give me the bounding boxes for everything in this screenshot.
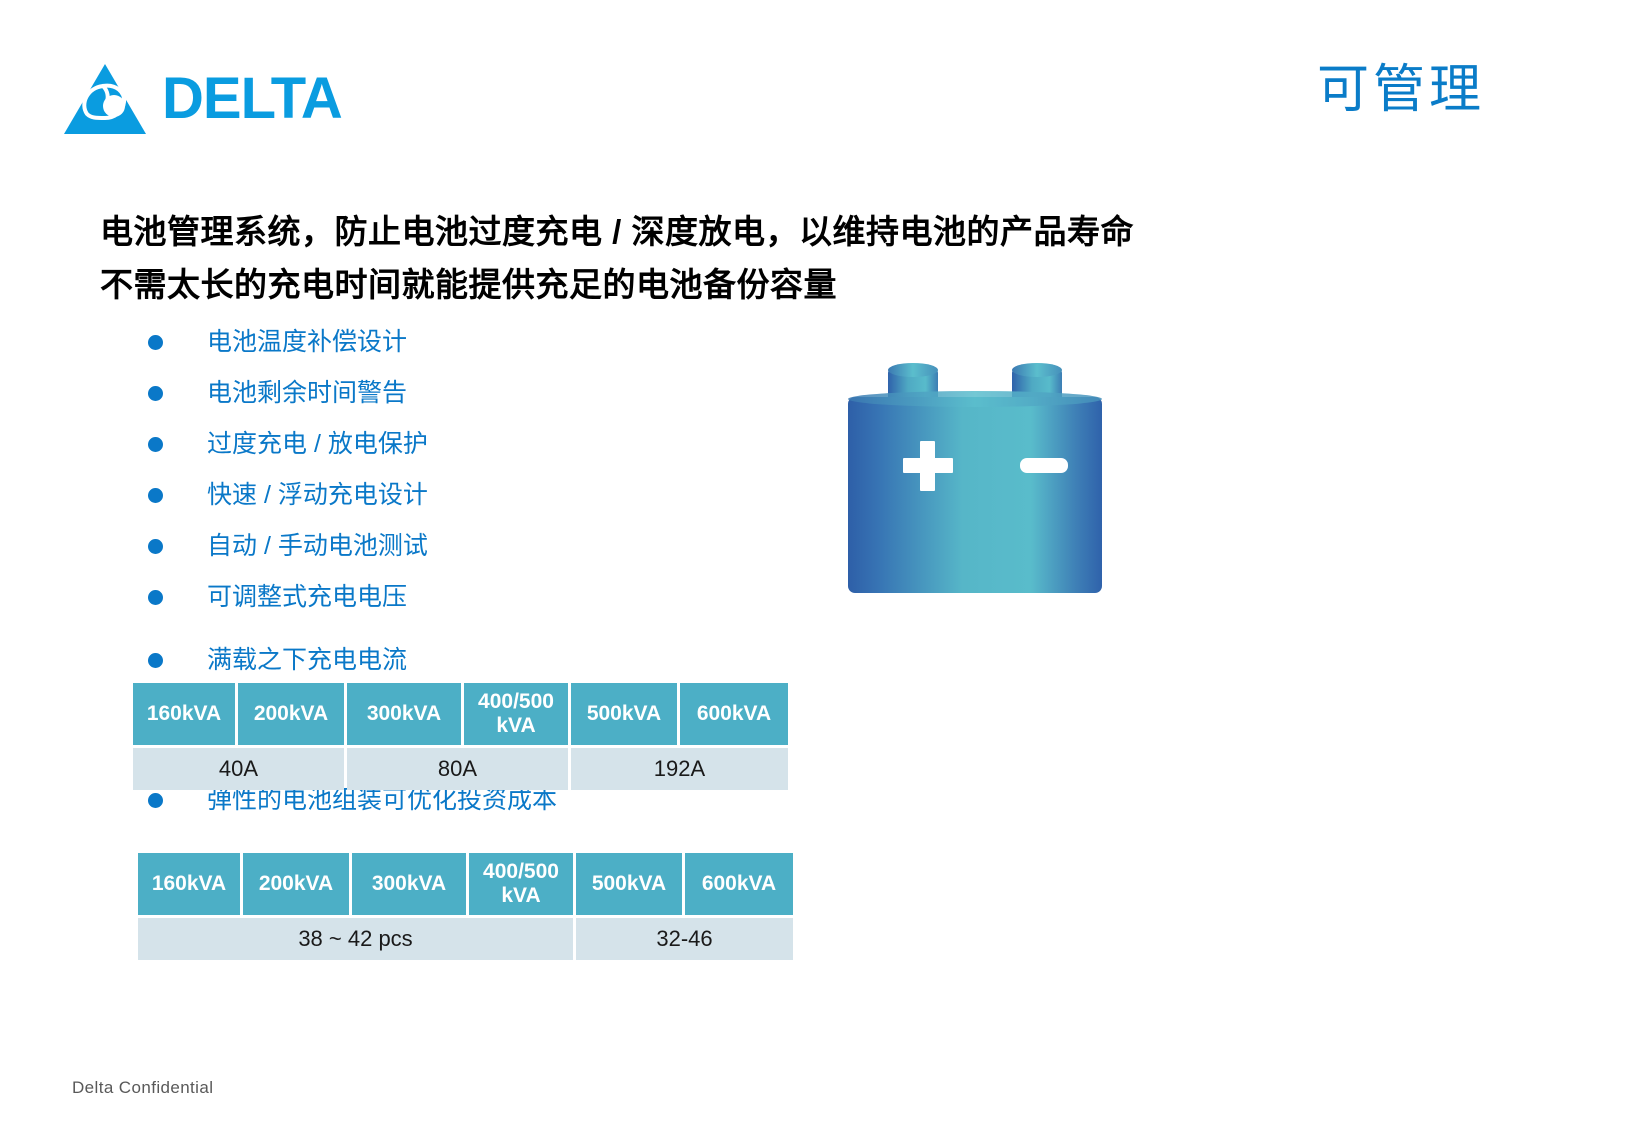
table-header-row: 160kVA 200kVA 300kVA 400/500 kVA 500kVA … (138, 853, 793, 915)
table-cell: 192A (571, 748, 788, 790)
bullet-dot-icon (148, 539, 163, 554)
table-row: 40A 80A 192A (133, 748, 788, 790)
feature-bullet-list: 电池温度补偿设计 电池剩余时间警告 过度充电 / 放电保护 快速 / 浮动充电设… (148, 328, 768, 697)
list-item-label: 自动 / 手动电池测试 (207, 532, 428, 561)
table-header-cell: 160kVA (133, 683, 235, 745)
table-battery-count: 160kVA 200kVA 300kVA 400/500 kVA 500kVA … (135, 850, 796, 963)
battery-icon (840, 355, 1110, 600)
brand-logo-text: DELTA (162, 70, 342, 128)
list-item-label: 快速 / 浮动充电设计 (207, 481, 428, 510)
list-item-label: 过度充电 / 放电保护 (207, 430, 428, 459)
table-charge-current: 160kVA 200kVA 300kVA 400/500 kVA 500kVA … (130, 680, 791, 793)
table-header-cell: 300kVA (352, 853, 466, 915)
flexible-battery-bullet: 弹性的电池组装可优化投资成本 (148, 786, 768, 837)
table-header-cell: 200kVA (238, 683, 344, 745)
table-header-cell: 400/500 kVA (469, 853, 573, 915)
table-cell: 32-46 (576, 918, 793, 960)
bullet-dot-icon (148, 653, 163, 668)
list-item-label: 可调整式充电电压 (207, 583, 407, 612)
table-header-cell: 500kVA (571, 683, 677, 745)
page-title: 可管理 (1317, 62, 1485, 119)
table-header-cell: 200kVA (243, 853, 349, 915)
list-item: 自动 / 手动电池测试 (148, 532, 768, 583)
table-header-cell: 600kVA (685, 853, 793, 915)
bullet-dot-icon (148, 793, 163, 808)
list-item: 过度充电 / 放电保护 (148, 430, 768, 481)
list-item-label: 电池剩余时间警告 (207, 379, 407, 408)
bullet-dot-icon (148, 386, 163, 401)
headline-line-2: 不需太长的充电时间就能提供充足的电池备份容量 (100, 258, 1200, 311)
table-header-cell: 300kVA (347, 683, 461, 745)
bullet-dot-icon (148, 590, 163, 605)
list-item-label: 满载之下充电电流 (207, 646, 407, 675)
table-row: 38 ~ 42 pcs 32-46 (138, 918, 793, 960)
delta-triangle-logo-icon (62, 62, 148, 136)
headline-line-1: 电池管理系统，防止电池过度充电 / 深度放电，以维持电池的产品寿命 (100, 205, 1200, 258)
table-header-cell: 160kVA (138, 853, 240, 915)
list-item: 电池温度补偿设计 (148, 328, 768, 379)
table-cell: 40A (133, 748, 344, 790)
table-header-row: 160kVA 200kVA 300kVA 400/500 kVA 500kVA … (133, 683, 788, 745)
footer-confidential-label: Delta Confidential (72, 1078, 213, 1098)
table-header-cell: 500kVA (576, 853, 682, 915)
bullet-dot-icon (148, 335, 163, 350)
list-item: 电池剩余时间警告 (148, 379, 768, 430)
list-item: 快速 / 浮动充电设计 (148, 481, 768, 532)
table-cell: 38 ~ 42 pcs (138, 918, 573, 960)
bullet-dot-icon (148, 488, 163, 503)
bullet-dot-icon (148, 437, 163, 452)
table-header-cell: 400/500 kVA (464, 683, 568, 745)
table-header-cell: 600kVA (680, 683, 788, 745)
headline: 电池管理系统，防止电池过度充电 / 深度放电，以维持电池的产品寿命 不需太长的充… (100, 205, 1200, 312)
brand-logo: DELTA (62, 62, 342, 136)
table-cell: 80A (347, 748, 568, 790)
list-item: 可调整式充电电压 (148, 583, 768, 634)
minus-sign-icon (1020, 458, 1068, 473)
list-item-label: 电池温度补偿设计 (207, 328, 407, 357)
list-item: 弹性的电池组装可优化投资成本 (148, 786, 768, 837)
